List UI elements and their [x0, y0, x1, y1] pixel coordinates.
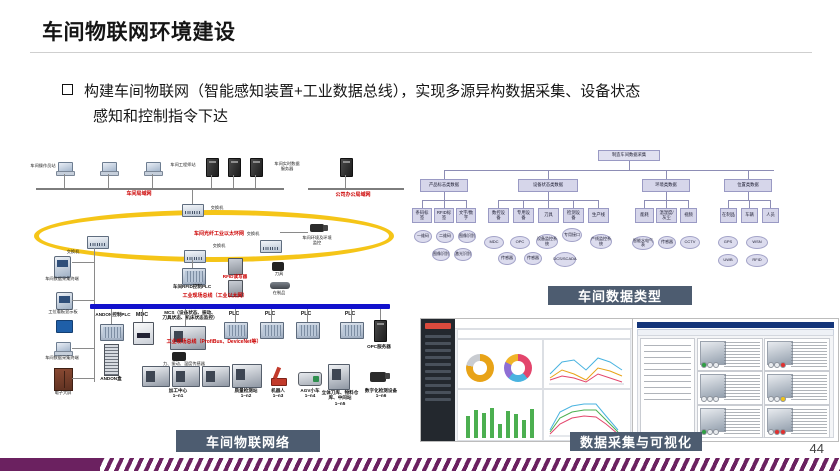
tree-branch-location: 位置类数据	[724, 179, 772, 192]
tree-ell-gps: GPS	[718, 236, 738, 249]
tree-ell-opc: OPC	[510, 236, 530, 249]
tree-line	[666, 192, 667, 200]
drop-line	[111, 309, 112, 324]
status-led-off	[707, 362, 713, 368]
drop-line	[64, 174, 65, 188]
mdc-device	[133, 322, 154, 345]
bar	[522, 420, 526, 438]
lan-label: 车间局域网	[104, 192, 174, 198]
tree-ell-sensor: 传感器	[658, 236, 676, 249]
plc-label: PLC	[342, 312, 358, 318]
tree-line	[523, 200, 524, 208]
bullet-line-2: 感知和控制指令下达	[93, 105, 802, 130]
slide: 车间物联网环境建设 构建车间物联网（智能感知装置+工业数据总线），实现多源异构数…	[0, 0, 840, 474]
bar	[490, 408, 494, 438]
tree-branch-equipment: 设备状态类数据	[518, 179, 578, 192]
fieldbus-main	[90, 304, 390, 309]
tree-leaf-rfid-tag: RFID标签	[434, 208, 454, 223]
robot-icon	[270, 367, 286, 384]
page-title: 车间物联网环境建设	[42, 16, 236, 46]
tree-line	[748, 170, 749, 179]
office-server	[340, 158, 353, 177]
dashboard-left[interactable]	[420, 318, 634, 442]
sidebar-item[interactable]	[425, 377, 451, 380]
plc-device	[340, 322, 364, 339]
agv-icon	[298, 372, 322, 386]
server	[228, 158, 241, 177]
inspection-station-label: 质量检测站 1~n2	[226, 388, 266, 399]
tree-leaf-special-equip: 专用设备	[513, 208, 534, 223]
board-label: 工位看板显示板	[42, 310, 84, 315]
footer-band	[0, 456, 840, 474]
link-line	[72, 300, 94, 301]
tree-ell-image-rec2: 图像识别	[432, 248, 450, 261]
plc-device	[224, 322, 248, 339]
switch-device	[182, 204, 204, 217]
machine-thumbnail	[767, 408, 793, 432]
drop-line	[271, 309, 272, 322]
link-line	[72, 378, 94, 379]
eng-station-label: 车间工程师站	[170, 163, 196, 168]
bullet-square-icon	[62, 84, 73, 95]
dashboard-filter-bar[interactable]	[457, 329, 631, 339]
tree-ell-wsn: WSN	[746, 236, 768, 249]
eboard-label: 电子大屏	[46, 391, 80, 396]
drop-line	[192, 260, 193, 268]
cctv-label: 车间环境及环境监控	[302, 236, 332, 246]
tree-line	[444, 170, 774, 171]
tree-ell-equip-monitor: 设备监控系统	[536, 234, 558, 249]
sidebar-item[interactable]	[425, 391, 451, 394]
donut-chart-1	[466, 354, 494, 382]
drop-line	[142, 309, 143, 322]
status-led-off	[774, 396, 780, 402]
tree-ell-special-interface: 专用接口	[562, 228, 582, 242]
tree-line	[466, 200, 467, 208]
sidebar-item[interactable]	[425, 335, 451, 338]
machine-params	[724, 409, 760, 434]
tree-caption-bar: 车间数据类型	[548, 286, 692, 305]
tree-line	[748, 192, 749, 200]
machine-monitor-body	[637, 335, 834, 438]
network-diagram: 车间操作员站 车间工程师站 车间实时数据服务器 车间局域网 公司办公局域网 车间…	[22, 152, 412, 444]
drop-line	[235, 309, 236, 322]
tree-ell-mdc: MDC	[484, 236, 504, 249]
machining-center	[172, 366, 200, 387]
tree-line	[548, 200, 549, 208]
chart-card-trend[interactable]	[543, 339, 631, 389]
bar	[466, 416, 470, 438]
machine-card[interactable]	[764, 371, 830, 404]
machining-center	[142, 366, 170, 387]
machining-center-label: 加工中心 1~n1	[158, 388, 198, 399]
bar	[482, 413, 486, 438]
tree-ell-dcs-scada: DCS/SCADA	[554, 252, 576, 267]
tree-branch-product: 产品标志类数据	[420, 179, 468, 192]
donut-chart-2	[504, 354, 532, 382]
tree-leaf-cnc: 数控设备	[488, 208, 509, 223]
sidebar-item[interactable]	[425, 370, 451, 373]
office-lan-label: 公司办公局域网	[318, 193, 388, 199]
tree-line	[548, 192, 549, 200]
op-station-pc	[100, 162, 117, 174]
chart-card-output[interactable]	[457, 389, 543, 441]
cctv-camera-icon	[310, 224, 324, 232]
bar	[514, 414, 518, 438]
sidebar-item[interactable]	[425, 363, 451, 366]
sidebar-item[interactable]	[425, 342, 451, 345]
title-divider	[30, 52, 812, 53]
bullet-block: 构建车间物联网（智能感知装置+工业数据总线），实现多源异构数据采集、设备状态 感…	[62, 80, 802, 130]
machine-params	[724, 342, 760, 367]
eng-station-server	[206, 158, 219, 177]
tree-line	[548, 170, 549, 179]
hmi-panel	[56, 320, 73, 333]
tree-leaf-personnel: 人员	[762, 208, 779, 223]
fieldbus-main-label: 工业现场总线（工业以太网）	[150, 294, 280, 300]
machine-params	[791, 409, 827, 434]
machine-params	[724, 375, 760, 400]
dashboard-toolbar[interactable]	[455, 319, 633, 329]
status-led-green	[701, 362, 707, 368]
line-chart-trend	[544, 340, 630, 388]
status-led-red	[774, 429, 780, 435]
rfid-reader-label: RFID读写器	[220, 274, 250, 279]
tree-ell-sensor: 传感器	[524, 252, 542, 265]
drop-line	[108, 174, 109, 188]
data-terminal-label: 车间数据采集终端	[42, 277, 82, 282]
tree-ell-image-rec: 图像识别	[458, 230, 476, 243]
sidebar-item[interactable]	[425, 349, 451, 352]
op-station-pc	[144, 162, 161, 174]
tool-store-icon	[328, 364, 350, 390]
switch-label: 交换机	[242, 232, 264, 237]
rfid-control-plc	[182, 268, 206, 285]
opc-server	[374, 320, 387, 342]
drop-line	[211, 175, 212, 188]
tree-line	[444, 170, 445, 179]
status-led-off	[707, 396, 713, 402]
drop-line	[233, 175, 234, 188]
rfid-plc-label: 车间RFID控制PLC	[164, 284, 220, 289]
lan-backbone	[36, 188, 284, 190]
office-lan-backbone	[308, 188, 404, 190]
tree-leaf-barcode: 条码标签	[412, 208, 432, 223]
chart-card-donuts[interactable]	[457, 339, 543, 389]
tree-line	[444, 200, 445, 208]
switch-device	[260, 240, 282, 253]
tree-leaf-inspect-equip: 检测设备	[563, 208, 584, 223]
link-line	[72, 262, 94, 263]
status-led-off	[774, 362, 780, 368]
tree-line	[498, 200, 499, 208]
tree-leaf-production-line: 生产线	[588, 208, 609, 223]
tool-label: 刀具	[270, 272, 288, 277]
sidebar-item[interactable]	[425, 384, 451, 387]
dashboard-sidebar[interactable]	[421, 319, 455, 441]
tree-leaf-wip: 在制品	[720, 208, 737, 223]
machine-params	[791, 375, 827, 400]
tree-ell-sensor: 传感器	[498, 252, 516, 265]
robot-label: 机器人 1~n3	[262, 388, 294, 399]
drop-line	[192, 190, 193, 204]
tree-leaf-tooling: 刀具	[538, 208, 559, 223]
tree-leaf-energy: 能耗	[635, 208, 654, 223]
machining-center	[202, 366, 230, 387]
link-line	[280, 232, 308, 233]
tree-ell-smart-meter: 智能水电气表	[632, 236, 654, 250]
status-led-red	[780, 429, 786, 435]
tree-leaf-temp-humidity: 温湿度/灰尘	[656, 208, 677, 223]
digital-device-label: 数字化检测设备 1~n6	[362, 388, 400, 399]
tree-diagram: 制造车间数据采集 产品标志类数据 设备状态类数据 环境类数据 位置类数据 条码标…	[418, 148, 822, 300]
plc-label: PLC	[298, 312, 314, 318]
sidebar-item[interactable]	[425, 356, 451, 359]
switch-label: 交换机	[206, 206, 228, 211]
machine-thumbnail	[767, 374, 793, 398]
drop-line	[255, 175, 256, 188]
andon-plc-label: ANDON控制PLC	[94, 312, 132, 317]
machine-list-panel[interactable]	[640, 338, 695, 435]
digital-device-icon	[370, 372, 386, 382]
status-led-off	[768, 429, 774, 435]
tree-leaf-text-number: 文字/数字	[456, 208, 476, 223]
server	[250, 158, 263, 177]
tree-line	[728, 200, 729, 208]
tree-line	[770, 200, 771, 208]
dashboard-right[interactable]	[632, 318, 839, 442]
tree-root: 制造车间数据采集	[598, 150, 660, 161]
data-terminal2-label: 车间数据采集终端	[40, 356, 84, 361]
switch-device	[184, 250, 206, 263]
machine-thumbnail	[700, 408, 726, 432]
status-led-off	[768, 362, 774, 368]
plc-device	[296, 322, 320, 339]
tree-leaf-vehicle: 车辆	[741, 208, 758, 223]
opc-label: OPC服务器	[364, 344, 394, 349]
machine-card[interactable]	[697, 405, 763, 438]
plc-label: PLC	[226, 312, 242, 318]
board-kiosk	[56, 292, 73, 310]
data-terminal-pc	[54, 342, 71, 354]
op-station-label: 车间操作员站	[30, 164, 56, 169]
machine-card[interactable]	[697, 338, 763, 371]
footer-stripes	[100, 458, 840, 471]
status-led-red	[780, 362, 786, 368]
tree-branch-environment: 环境类数据	[642, 179, 690, 192]
status-led-off	[713, 396, 719, 402]
status-led-off	[701, 396, 707, 402]
tree-line	[629, 161, 630, 170]
fieldbus-sub-label: 工业现场总线（ProfiBus、DeviceNet等）	[158, 340, 270, 346]
drop-line	[345, 175, 346, 188]
tree-ell-uwb: UWB	[718, 254, 738, 267]
mcs-label: MCS（设备状态、振动、刀具状态、机床状态监控）	[162, 310, 218, 321]
andon-plc-device	[100, 324, 124, 341]
machine-card[interactable]	[764, 338, 830, 371]
rt-server-label: 车间实时数据服务器	[274, 162, 300, 172]
machine-monitor-title	[637, 322, 834, 328]
tree-line	[688, 200, 689, 208]
dashboard-main	[455, 319, 633, 441]
drop-line	[351, 309, 352, 322]
dashboard-logo	[425, 323, 451, 329]
andon-box	[104, 344, 119, 376]
andon-unit-label: ANDON盒	[96, 376, 126, 381]
bar	[474, 410, 478, 438]
tree-ell-rfid: RFID	[746, 254, 768, 267]
status-led-off	[713, 362, 719, 368]
machine-params	[791, 342, 827, 367]
bar	[506, 411, 510, 438]
status-led-off	[713, 429, 719, 435]
bar	[530, 409, 534, 438]
drop-line	[185, 309, 186, 326]
electronic-board-cabinet	[54, 368, 73, 391]
tree-line	[749, 200, 750, 208]
tree-line	[644, 200, 645, 208]
tool-store-label: 立体刀库、物料仓库、中间站 1~n5	[320, 390, 360, 406]
switch-device	[87, 236, 109, 249]
inspection-station	[232, 364, 262, 388]
sidebar-item[interactable]	[425, 398, 451, 401]
drop-line	[307, 309, 308, 322]
plc-device	[260, 322, 284, 339]
sensor-icon	[172, 352, 186, 361]
tree-ell-1d: 一维码	[414, 230, 432, 243]
tree-line	[666, 170, 667, 179]
tree-line	[573, 200, 574, 208]
rfid-reader-device	[228, 258, 243, 275]
page-number: 44	[810, 441, 824, 456]
drop-line	[380, 309, 381, 320]
tool-icon	[272, 262, 284, 271]
status-led-off	[707, 429, 713, 435]
tree-line	[444, 192, 445, 200]
machine-card[interactable]	[764, 405, 830, 438]
status-led-off	[768, 396, 774, 402]
tree-ell-line-monitor: 产线监控系统	[590, 234, 612, 249]
tree-line	[598, 200, 599, 208]
dashboard-caption-bar: 数据采集与可视化	[570, 432, 702, 451]
tree-ell-laser-rec: 激光识别	[454, 248, 472, 261]
tree-ell-cctv: CCTV	[680, 236, 700, 249]
switch-label: 交换机	[208, 244, 230, 249]
bar	[498, 424, 502, 438]
mcs-device	[170, 326, 206, 350]
plc-label: PLC	[262, 312, 278, 318]
machine-thumbnail	[700, 374, 726, 398]
op-station-pc	[56, 162, 73, 174]
status-led-yellow	[780, 396, 786, 402]
bullet-line-1: 构建车间物联网（智能感知装置+工业数据总线），实现多源异构数据采集、设备状态	[84, 83, 640, 100]
network-caption-bar: 车间物联网络	[176, 430, 320, 452]
link-line	[72, 348, 94, 349]
data-terminal-kiosk	[54, 256, 71, 278]
tree-line	[422, 200, 423, 208]
tree-leaf-video: 视频	[680, 208, 697, 223]
tree-line	[666, 200, 667, 208]
drop-line	[152, 174, 153, 188]
switch-label: 交换机	[62, 250, 84, 255]
tree-ell-2d: 二维码	[436, 230, 454, 243]
machine-card[interactable]	[697, 371, 763, 404]
workpiece-icon	[270, 282, 290, 289]
